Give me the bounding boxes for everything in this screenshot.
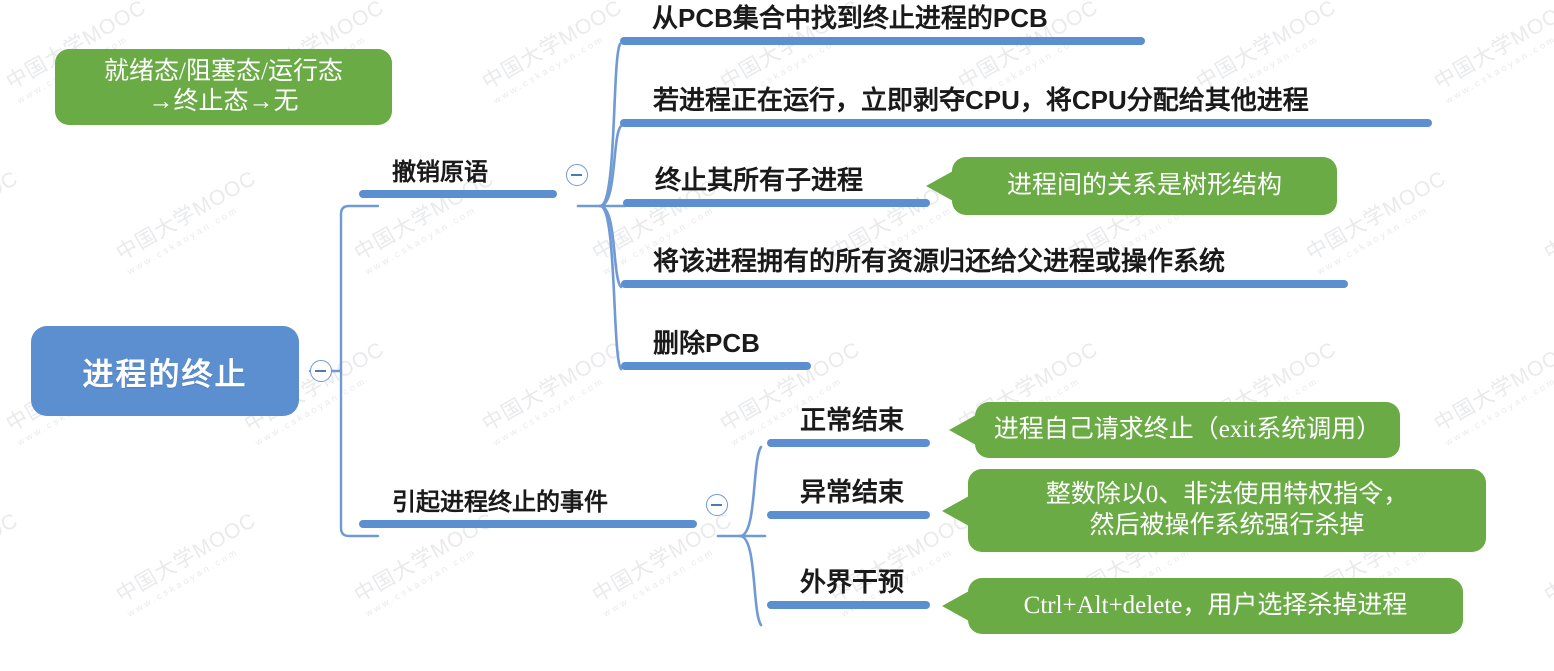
topic-underline bbox=[767, 601, 930, 609]
callout-killed-by-os[interactable]: 整数除以0、非法使用特权指令， 然后被操作系统强行杀掉 bbox=[968, 469, 1486, 552]
topic-underline bbox=[620, 37, 1145, 45]
topic-return-resources-label: 将该进程拥有的所有资源归还给父进程或操作系统 bbox=[653, 247, 1348, 276]
topic-underline bbox=[767, 439, 930, 447]
topic-normal-end[interactable]: 正常结束 bbox=[800, 406, 930, 447]
branch-revoke-primitive-label: 撤销原语 bbox=[392, 160, 557, 186]
callout-ctrl-alt-delete-text: Ctrl+Alt+delete，用户选择杀掉进程 bbox=[1024, 591, 1408, 622]
callout-process-tree[interactable]: 进程间的关系是树形结构 bbox=[952, 157, 1337, 215]
branch-revoke-primitive[interactable]: 撤销原语 bbox=[392, 160, 557, 198]
callout-exit-syscall-text: 进程自己请求终止（exit系统调用） bbox=[994, 415, 1382, 446]
topic-normal-end-label: 正常结束 bbox=[800, 406, 930, 435]
callout-state-transition[interactable]: 就绪态/阻塞态/运行态 →终止态→无 bbox=[55, 49, 392, 125]
topic-preempt-cpu[interactable]: 若进程正在运行，立即剥夺CPU，将CPU分配给其他进程 bbox=[653, 86, 1432, 127]
topic-delete-pcb-label: 删除PCB bbox=[653, 329, 811, 358]
watermark-text: 中国大学MOOCwww.cskaoyan.com bbox=[476, 333, 633, 447]
mind-map-canvas: 中国大学MOOCwww.cskaoyan.com中国大学MOOCwww.cska… bbox=[0, 0, 1554, 671]
topic-preempt-cpu-label: 若进程正在运行，立即剥夺CPU，将CPU分配给其他进程 bbox=[653, 86, 1432, 115]
branch-termination-events[interactable]: 引起进程终止的事件 bbox=[392, 490, 697, 528]
topic-external-interrupt[interactable]: 外界干预 bbox=[800, 568, 930, 609]
topic-terminate-children-label: 终止其所有子进程 bbox=[655, 166, 930, 195]
branch-underline bbox=[359, 190, 557, 198]
topic-underline bbox=[620, 119, 1432, 127]
topic-abnormal-end-label: 异常结束 bbox=[800, 478, 930, 507]
callout-killed-by-os-text: 整数除以0、非法使用特权指令， 然后被操作系统强行杀掉 bbox=[1046, 480, 1409, 541]
branch-termination-events-label: 引起进程终止的事件 bbox=[392, 490, 697, 516]
topic-underline bbox=[767, 511, 930, 519]
root-node-label: 进程的终止 bbox=[83, 349, 248, 394]
topic-find-pcb-label: 从PCB集合中找到终止进程的PCB bbox=[652, 4, 1145, 33]
topic-abnormal-end[interactable]: 异常结束 bbox=[800, 478, 930, 519]
callout-ctrl-alt-delete[interactable]: Ctrl+Alt+delete，用户选择杀掉进程 bbox=[968, 578, 1463, 634]
topic-underline bbox=[621, 362, 811, 370]
topic-terminate-children[interactable]: 终止其所有子进程 bbox=[655, 166, 930, 207]
callout-tail-left bbox=[926, 171, 953, 201]
branch-underline bbox=[359, 520, 697, 528]
callout-state-transition-text: 就绪态/阻塞态/运行态 →终止态→无 bbox=[104, 57, 343, 118]
watermark-text: 中国大学MOOCwww.cskaoyan.com bbox=[1428, 0, 1554, 106]
branch-revoke-primitive-toggle[interactable] bbox=[566, 164, 588, 186]
callout-exit-syscall[interactable]: 进程自己请求终止（exit系统调用） bbox=[975, 402, 1400, 458]
watermark-text: 中国大学MOOCwww.cskaoyan.com bbox=[1538, 504, 1554, 618]
branch-termination-events-toggle[interactable] bbox=[706, 494, 728, 516]
topic-return-resources[interactable]: 将该进程拥有的所有资源归还给父进程或操作系统 bbox=[653, 247, 1348, 288]
callout-tail-left bbox=[942, 591, 969, 621]
watermark-text: 中国大学MOOCwww.cskaoyan.com bbox=[110, 504, 267, 618]
callout-process-tree-text: 进程间的关系是树形结构 bbox=[1007, 171, 1282, 202]
root-node[interactable]: 进程的终止 bbox=[31, 326, 299, 416]
callout-tail-left bbox=[949, 415, 976, 445]
watermark-text: 中国大学MOOCwww.cskaoyan.com bbox=[0, 504, 29, 618]
watermark-text: 中国大学MOOCwww.cskaoyan.com bbox=[110, 162, 267, 276]
watermark-text: 中国大学MOOCwww.cskaoyan.com bbox=[0, 162, 29, 276]
watermark-text: 中国大学MOOCwww.cskaoyan.com bbox=[1538, 162, 1554, 276]
root-collapse-toggle[interactable] bbox=[310, 360, 332, 382]
topic-delete-pcb[interactable]: 删除PCB bbox=[653, 329, 811, 370]
watermark-text: 中国大学MOOCwww.cskaoyan.com bbox=[476, 0, 633, 106]
topic-find-pcb[interactable]: 从PCB集合中找到终止进程的PCB bbox=[652, 4, 1145, 45]
topic-underline bbox=[623, 199, 930, 207]
watermark-text: 中国大学MOOCwww.cskaoyan.com bbox=[1428, 333, 1554, 447]
topic-external-interrupt-label: 外界干预 bbox=[800, 568, 930, 597]
callout-tail-left bbox=[942, 496, 969, 526]
topic-underline bbox=[621, 280, 1348, 288]
